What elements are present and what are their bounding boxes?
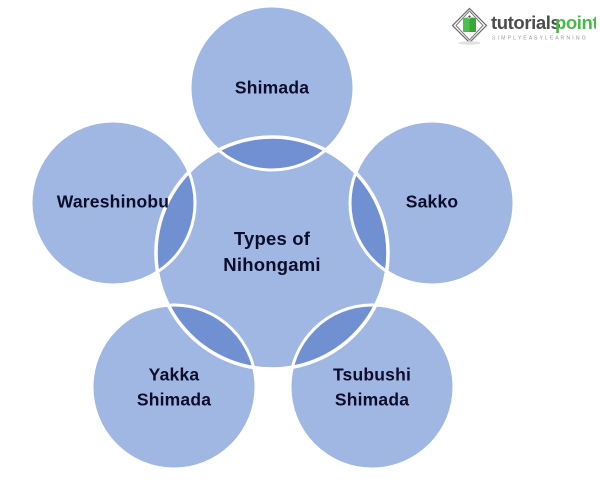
label-shimada: Shimada [235,78,309,98]
label-yakka-shimada-line1: Yakka [149,365,200,385]
label-tsubushi-shimada-line1: Tsubushi [333,365,411,385]
label-yakka-shimada-line2: Shimada [137,390,211,410]
label-center-line2: Nihongami [223,254,320,275]
tutorialspoint-logo: tutorials point S I M P L Y E A S Y L E … [452,6,596,48]
logo-word-point: point [555,12,596,33]
logo-diamond-icon [453,9,487,45]
radial-diagram: Shimada Wareshinobu Sakko Yakka Shimada … [0,0,600,483]
label-wareshinobu: Wareshinobu [57,192,169,212]
logo-tagline: S I M P L Y E A S Y L E A R N I N G [492,36,586,42]
label-tsubushi-shimada-line2: Shimada [335,390,409,410]
label-sakko: Sakko [406,192,459,212]
logo-word-tutorials: tutorials [491,12,560,33]
label-center-line1: Types of [234,228,311,249]
diagram-canvas: Shimada Wareshinobu Sakko Yakka Shimada … [0,0,600,483]
